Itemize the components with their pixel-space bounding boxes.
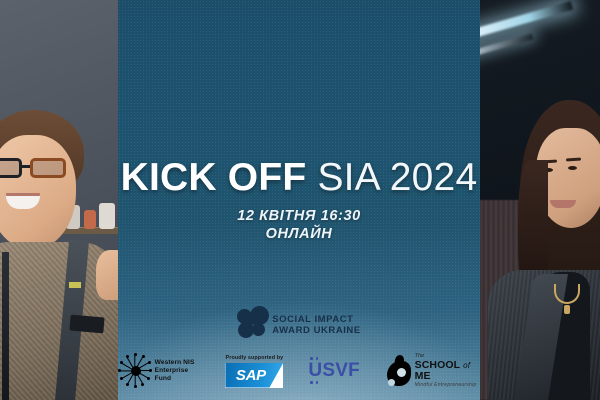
school-of-me-me: ME [415, 370, 431, 382]
sponsor-usvf: USVF [308, 360, 359, 382]
usvf-dots-top [310, 357, 318, 360]
left-photo-strap-tag [69, 282, 81, 288]
glasses-lens-left [0, 158, 22, 178]
sia-logo-text: SOCIAL IMPACT AWARD UKRAINE [272, 315, 360, 336]
left-photo-glasses [0, 158, 80, 178]
wnisef-logo-text: Western NIS Enterprise Fund [155, 359, 201, 384]
school-of-me-of: of [463, 361, 470, 370]
school-of-me-animal-icon [385, 355, 409, 388]
event-kickoff-banner: KICK OFF SIA 2024 12 КВІТНЯ 16:30 ОНЛАЙН… [0, 0, 600, 400]
headline-bold: KICK OFF [121, 156, 307, 199]
school-of-me-main: SCHOOL of ME [415, 360, 480, 384]
headline-block: KICK OFF SIA 2024 12 КВІТНЯ 16:30 ОНЛАЙН [118, 158, 480, 244]
sia-butterfly-icon [237, 306, 269, 338]
social-impact-award-logo: SOCIAL IMPACT AWARD UKRAINE [118, 306, 480, 338]
sponsor-row: Western NIS Enterprise Fund Proudly supp… [118, 353, 480, 389]
sia-logo-line2: AWARD UKRAINE [272, 326, 360, 337]
page-title: KICK OFF SIA 2024 [118, 158, 480, 198]
left-photo-strap-buckle [69, 315, 104, 334]
school-of-me-tagline: Mindful Entrepreneurship [415, 383, 480, 389]
usvf-wordmark: USVF [308, 360, 359, 382]
left-photo-jar [99, 203, 115, 229]
event-format: ОНЛАЙН [118, 225, 480, 244]
sponsor-the-school-of-me: The SCHOOL of ME Mindful Entrepreneurshi… [385, 353, 480, 388]
left-photo-hand [96, 250, 118, 300]
school-of-me-school: SCHOOL [415, 359, 461, 371]
wnisef-line2: Enterprise Fund [155, 367, 201, 383]
sia-logo-line1: SOCIAL IMPACT [272, 315, 360, 326]
right-photo-eye [568, 166, 577, 170]
sap-logo-badge: SAP [225, 363, 283, 388]
sap-supported-label: Proudly supported by [226, 355, 284, 361]
left-photo-zipper [2, 252, 9, 400]
center-gradient-panel: KICK OFF SIA 2024 12 КВІТНЯ 16:30 ОНЛАЙН… [118, 0, 480, 400]
left-photo-jar [84, 210, 96, 229]
photo-left-man [0, 0, 118, 400]
wnisef-line1: Western NIS [155, 359, 201, 367]
glasses-lens-right [30, 158, 66, 178]
sponsor-sap: Proudly supported by SAP [225, 355, 283, 388]
usvf-dots-bottom [310, 381, 318, 384]
photo-right-woman [480, 0, 600, 400]
school-of-me-logo-text: The SCHOOL of ME Mindful Entrepreneurshi… [415, 353, 480, 388]
sap-wordmark: SAP [236, 367, 273, 384]
sponsor-western-nis-enterprise-fund: Western NIS Enterprise Fund [118, 353, 200, 389]
right-photo-lips [550, 200, 576, 208]
event-date-time: 12 КВІТНЯ 16:30 [118, 207, 480, 226]
starburst-network-icon [118, 353, 150, 389]
right-photo-pendant [564, 305, 570, 314]
headline-light: SIA 2024 [317, 156, 477, 199]
event-subline: 12 КВІТНЯ 16:30 ОНЛАЙН [118, 207, 480, 244]
